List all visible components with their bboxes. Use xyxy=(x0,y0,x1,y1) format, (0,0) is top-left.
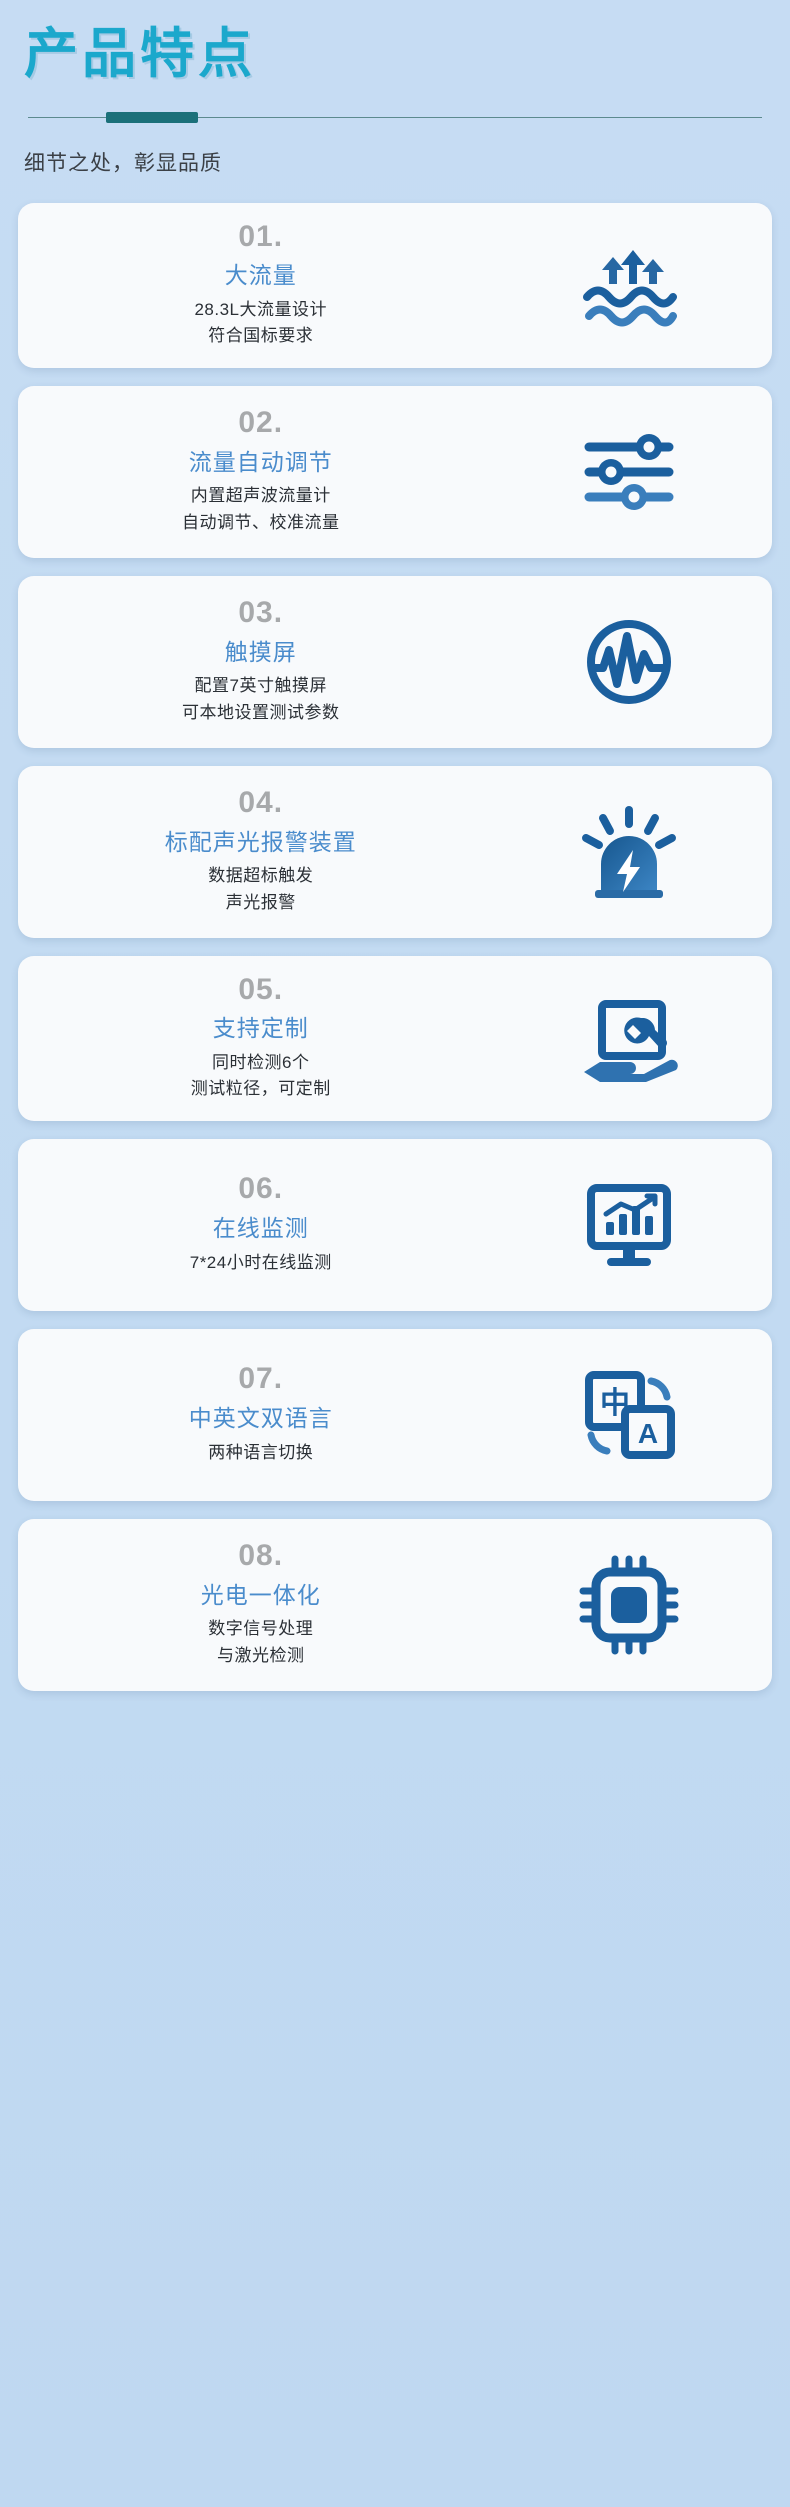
feature-card-05-text: 05. 支持定制 同时检测6个 测试粒径，可定制 xyxy=(18,974,485,1103)
feature-card-04-text: 04. 标配声光报警装置 数据超标触发 声光报警 xyxy=(18,787,485,916)
feature-heading: 中英文双语言 xyxy=(189,1405,333,1433)
feature-heading: 触摸屏 xyxy=(225,639,297,667)
feature-number: 06. xyxy=(238,1173,283,1205)
divider-accent-bar xyxy=(106,112,198,123)
feature-heading: 在线监测 xyxy=(213,1215,309,1243)
feature-number: 03. xyxy=(238,597,283,629)
feature-card-05[interactable]: 05. 支持定制 同时检测6个 测试粒径，可定制 xyxy=(18,956,772,1121)
feature-card-06-text: 06. 在线监测 7*24小时在线监测 xyxy=(18,1173,485,1275)
feature-card-03-text: 03. 触摸屏 配置7英寸触摸屏 可本地设置测试参数 xyxy=(18,597,485,726)
feature-desc-line2: 测试粒径，可定制 xyxy=(191,1076,331,1102)
title-divider xyxy=(24,111,766,125)
feature-desc-line2: 符合国标要求 xyxy=(208,323,313,349)
feature-desc-line1: 两种语言切换 xyxy=(208,1440,313,1466)
feature-heading: 流量自动调节 xyxy=(189,449,333,477)
feature-desc-line2: 自动调节、校准流量 xyxy=(182,510,340,536)
waveform-circle-icon xyxy=(485,614,772,710)
feature-card-04[interactable]: 04. 标配声光报警装置 数据超标触发 声光报警 xyxy=(18,766,772,938)
page-header: 产品特点 细节之处，彰显品质 xyxy=(18,0,772,177)
feature-number: 01. xyxy=(238,221,283,253)
feature-card-07-text: 07. 中英文双语言 两种语言切换 xyxy=(18,1363,485,1465)
feature-number: 08. xyxy=(238,1540,283,1572)
feature-number: 07. xyxy=(238,1363,283,1395)
feature-card-03[interactable]: 03. 触摸屏 配置7英寸触摸屏 可本地设置测试参数 xyxy=(18,576,772,748)
feature-card-list: 01. 大流量 28.3L大流量设计 符合国标要求 xyxy=(18,203,772,1691)
feature-desc-line1: 28.3L大流量设计 xyxy=(194,297,327,323)
feature-desc-line2: 声光报警 xyxy=(226,890,296,916)
feature-card-01[interactable]: 01. 大流量 28.3L大流量设计 符合国标要求 xyxy=(18,203,772,368)
feature-desc-line2: 可本地设置测试参数 xyxy=(182,700,340,726)
sliders-icon xyxy=(485,429,772,515)
feature-desc-line1: 同时检测6个 xyxy=(212,1050,309,1076)
feature-desc-line1: 数字信号处理 xyxy=(208,1616,313,1642)
feature-card-02[interactable]: 02. 流量自动调节 内置超声波流量计 自动调节、校准流量 xyxy=(18,386,772,558)
feature-card-08-text: 08. 光电一体化 数字信号处理 与激光检测 xyxy=(18,1540,485,1669)
feature-number: 05. xyxy=(238,974,283,1006)
translate-icon: 中 A xyxy=(485,1369,772,1461)
feature-desc-line1: 7*24小时在线监测 xyxy=(190,1250,332,1276)
product-features-page: 产品特点 细节之处，彰显品质 01. 大流量 28.3L大流量设计 符合国标要求 xyxy=(0,0,790,2507)
translate-en-glyph: A xyxy=(638,1418,658,1449)
hand-screen-wrench-icon xyxy=(485,994,772,1082)
feature-card-02-text: 02. 流量自动调节 内置超声波流量计 自动调节、校准流量 xyxy=(18,407,485,536)
feature-card-01-text: 01. 大流量 28.3L大流量设计 符合国标要求 xyxy=(18,221,485,350)
feature-number: 04. xyxy=(238,787,283,819)
feature-card-07[interactable]: 07. 中英文双语言 两种语言切换 中 A xyxy=(18,1329,772,1501)
feature-heading: 光电一体化 xyxy=(201,1582,321,1610)
feature-desc-line1: 数据超标触发 xyxy=(208,863,313,889)
feature-desc-line1: 配置7英寸触摸屏 xyxy=(195,673,327,699)
alarm-siren-icon xyxy=(485,806,772,898)
monitor-chart-icon xyxy=(485,1180,772,1270)
feature-card-08[interactable]: 08. 光电一体化 数字信号处理 与激光检测 xyxy=(18,1519,772,1691)
page-title: 产品特点 xyxy=(24,26,766,83)
feature-heading: 支持定制 xyxy=(213,1015,309,1043)
feature-heading: 标配声光报警装置 xyxy=(165,829,357,857)
page-subtitle: 细节之处，彰显品质 xyxy=(24,147,766,177)
feature-number: 02. xyxy=(238,407,283,439)
flow-arrows-waves-icon xyxy=(485,242,772,328)
feature-desc-line1: 内置超声波流量计 xyxy=(191,483,331,509)
feature-heading: 大流量 xyxy=(225,262,297,290)
feature-desc-line2: 与激光检测 xyxy=(217,1643,305,1669)
cpu-chip-icon xyxy=(485,1555,772,1655)
feature-card-06[interactable]: 06. 在线监测 7*24小时在线监测 xyxy=(18,1139,772,1311)
